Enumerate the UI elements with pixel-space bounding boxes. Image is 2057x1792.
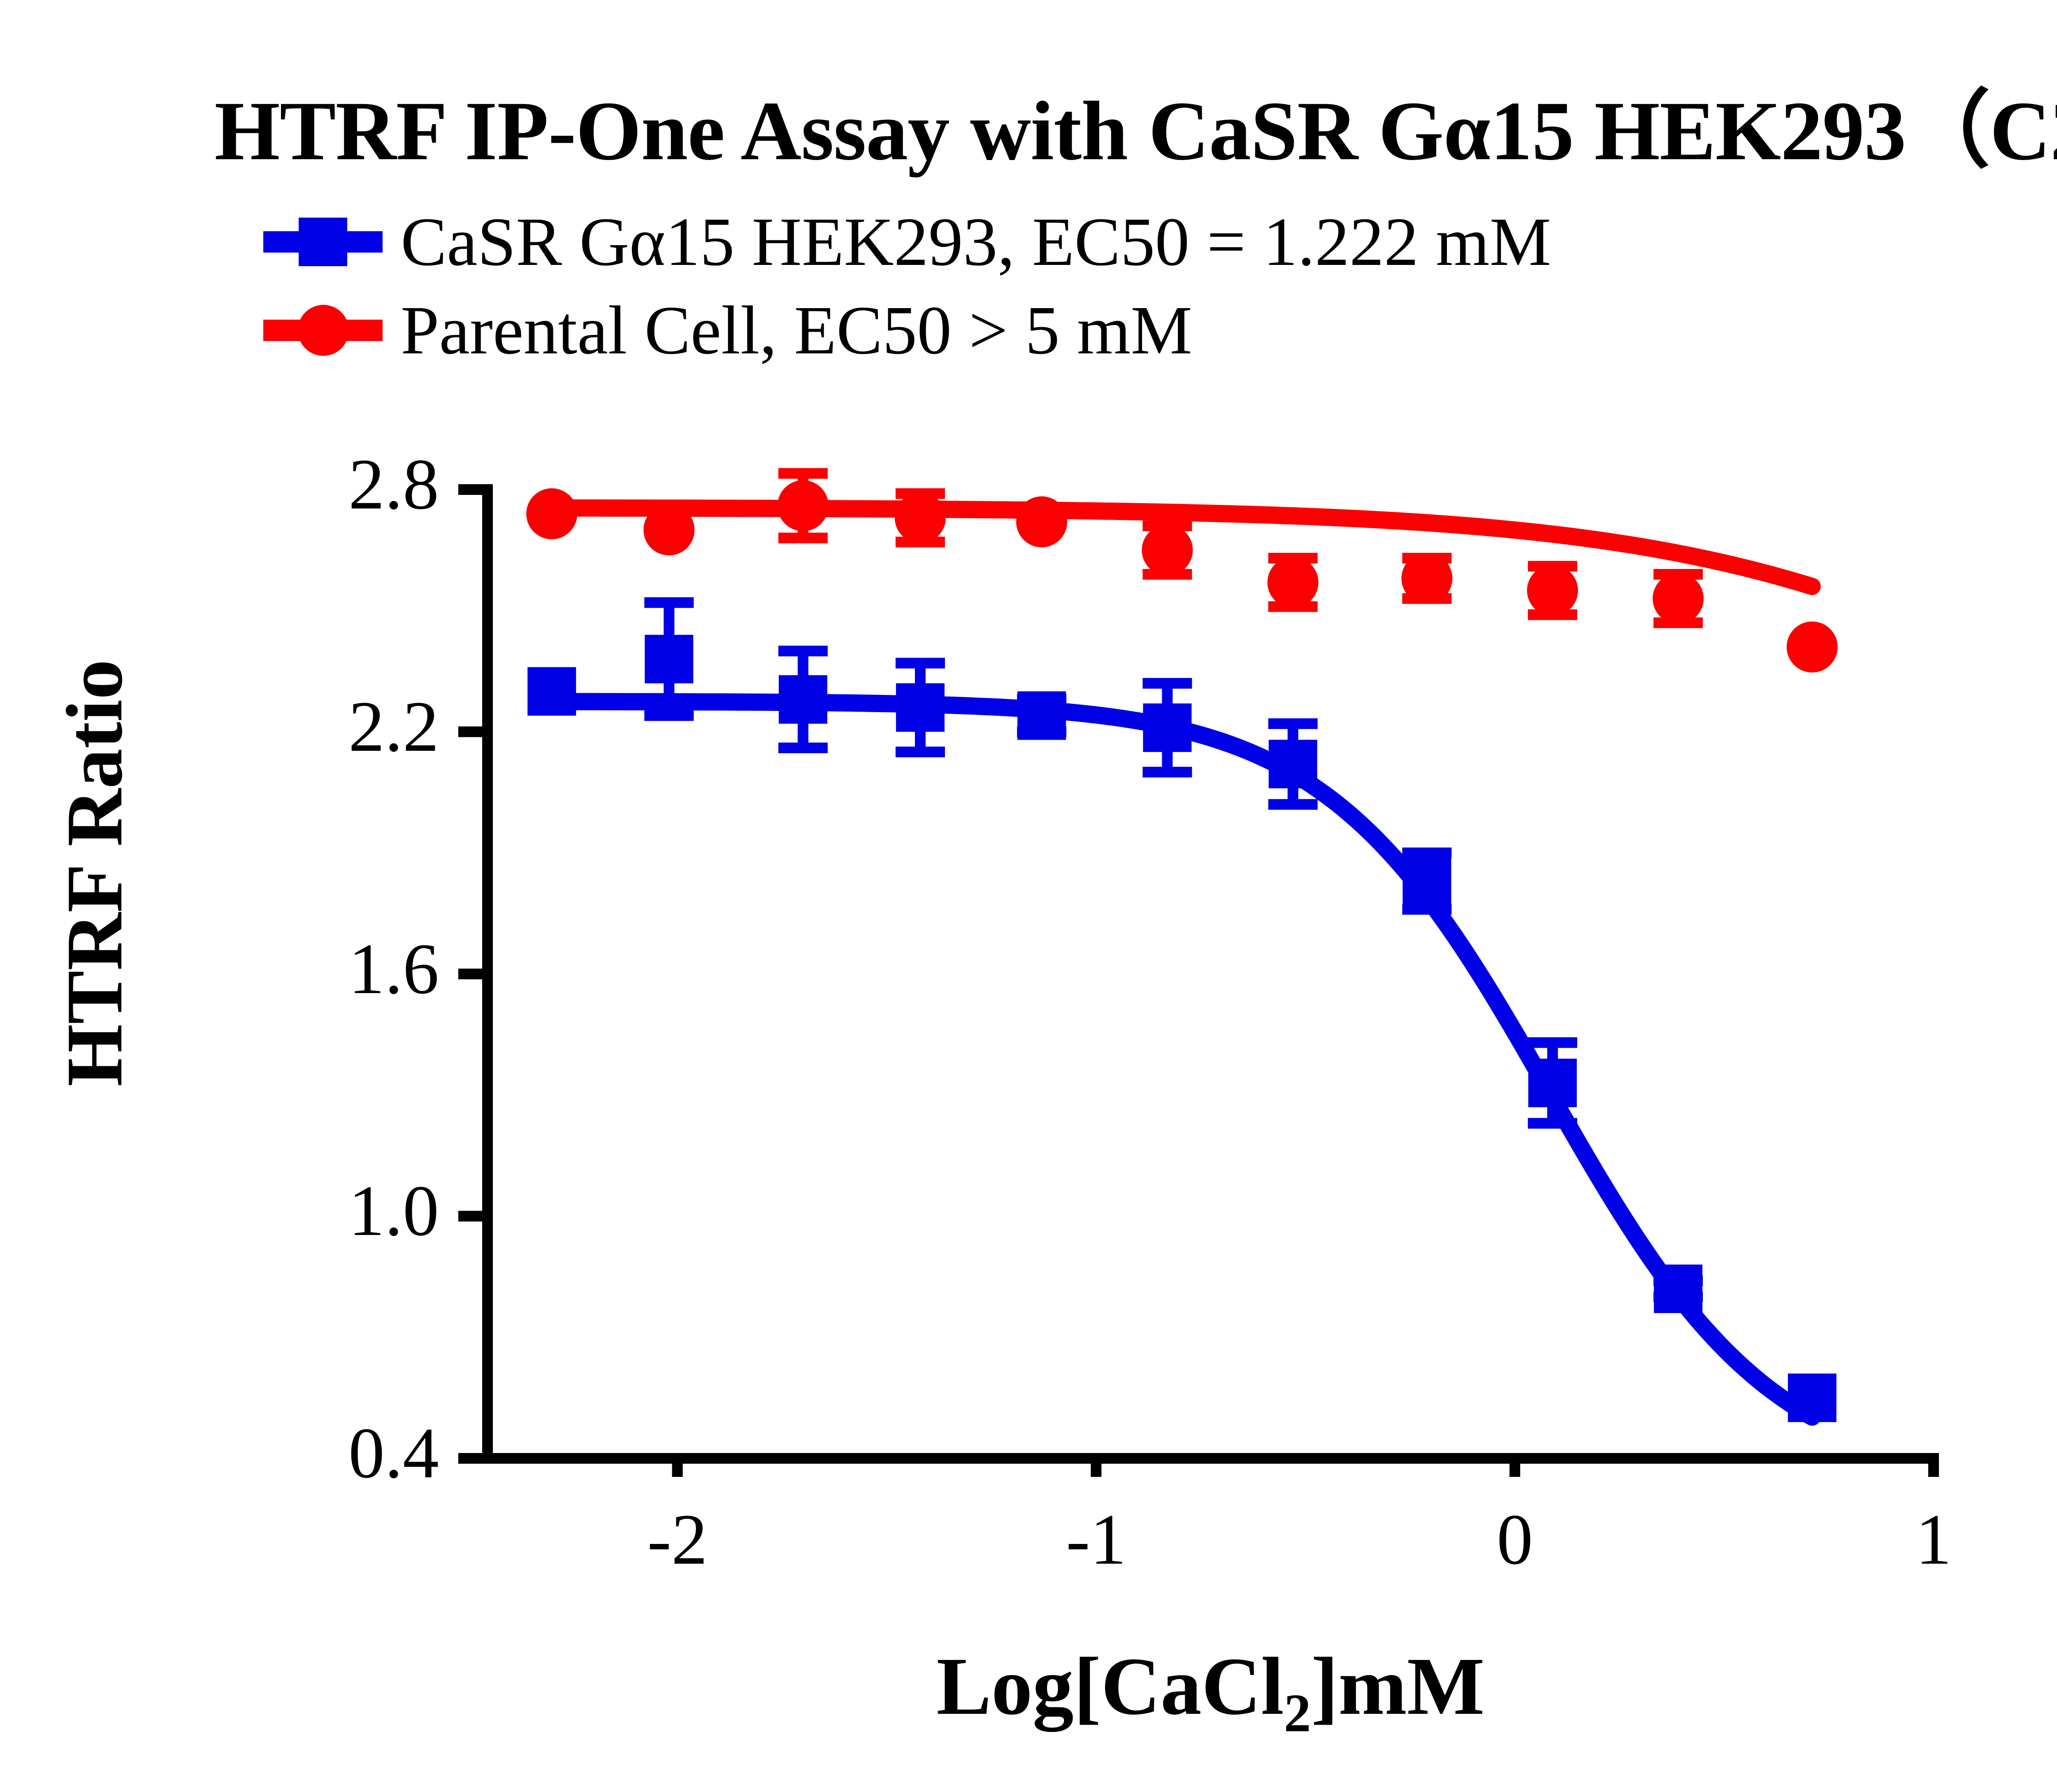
axis-lines [458,484,1939,1477]
data-series-group [526,468,1838,1422]
x-tick-label: 0 [1453,1504,1576,1576]
data-point-marker [778,480,829,531]
data-point-marker [1788,1374,1836,1422]
data-point-marker [643,504,694,555]
data-point-marker [779,675,827,724]
x-axis-title-subscript: 2 [1284,1683,1311,1743]
data-point-marker [1142,525,1193,576]
x-axis-title: Log[CaCl2]mM [488,1639,1934,1744]
y-tick-label: 2.8 [266,448,439,521]
x-tick-label: -1 [1034,1504,1158,1576]
data-point-marker [1269,740,1317,788]
data-point-marker [895,492,946,543]
x-axis-title-tail: ]mM [1311,1641,1485,1732]
x-tick-label: 1 [1872,1504,1995,1576]
y-tick-label: 2.2 [266,691,439,763]
data-point-marker [1654,1265,1702,1313]
data-point-marker [526,488,577,539]
data-point-marker [1017,692,1066,740]
data-point-marker [1268,557,1319,608]
plot-svg [0,0,2057,1792]
data-point-marker [1528,1058,1577,1107]
figure-root: HTRF IP-One Assay with CaSR Gα15 HEK293（… [0,0,2057,1792]
y-tick-label: 1.0 [266,1175,439,1247]
plot-area: 2.8 2.2 1.6 1.0 0.4 -2 -1 0 1 HTRF Ratio… [0,0,2057,1792]
x-tick-label: -2 [616,1504,739,1576]
data-point-marker [1527,565,1578,616]
data-point-marker [1016,497,1067,548]
data-point-marker [645,635,693,683]
y-axis-title: HTRF Ratio [49,564,141,1182]
series-casr [527,597,1836,1422]
data-point-marker [1787,622,1838,673]
data-point-marker [527,667,576,716]
data-point-marker [896,683,945,732]
y-tick-label: 0.4 [266,1417,439,1490]
data-point-marker [1143,703,1191,752]
series-parental [526,468,1838,673]
x-axis-title-main: Log[CaCl [936,1641,1284,1732]
data-point-marker [1402,857,1451,905]
data-point-marker [1653,573,1704,624]
y-tick-label: 1.6 [266,933,439,1005]
data-point-marker [1401,553,1452,604]
